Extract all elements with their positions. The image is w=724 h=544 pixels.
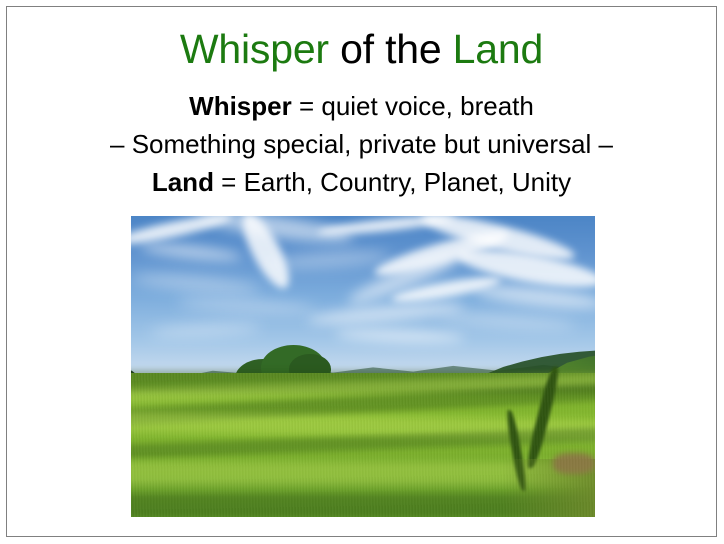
title-connector: of the [329, 26, 453, 72]
subtitle-line-1-definition: = quiet voice, breath [292, 91, 534, 121]
slide-subtitle: Whisper = quiet voice, breath – Somethin… [7, 87, 716, 201]
subtitle-line-1-term: Whisper [189, 91, 292, 121]
landscape-photo [131, 216, 595, 517]
slide-title: Whisper of the Land [7, 25, 716, 73]
field-texture [131, 373, 595, 517]
subtitle-line-3-term: Land [152, 167, 214, 197]
subtitle-line-1: Whisper = quiet voice, breath [7, 87, 716, 125]
photo-content [131, 216, 595, 517]
rice-field [131, 373, 595, 517]
title-word-whisper: Whisper [180, 26, 329, 72]
subtitle-line-2: – Something special, private but univers… [7, 125, 716, 163]
subtitle-line-3: Land = Earth, Country, Planet, Unity [7, 163, 716, 201]
title-word-land: Land [453, 26, 543, 72]
slide-canvas: Whisper of the Land Whisper = quiet voic… [6, 6, 717, 537]
subtitle-line-3-definition: = Earth, Country, Planet, Unity [214, 167, 571, 197]
